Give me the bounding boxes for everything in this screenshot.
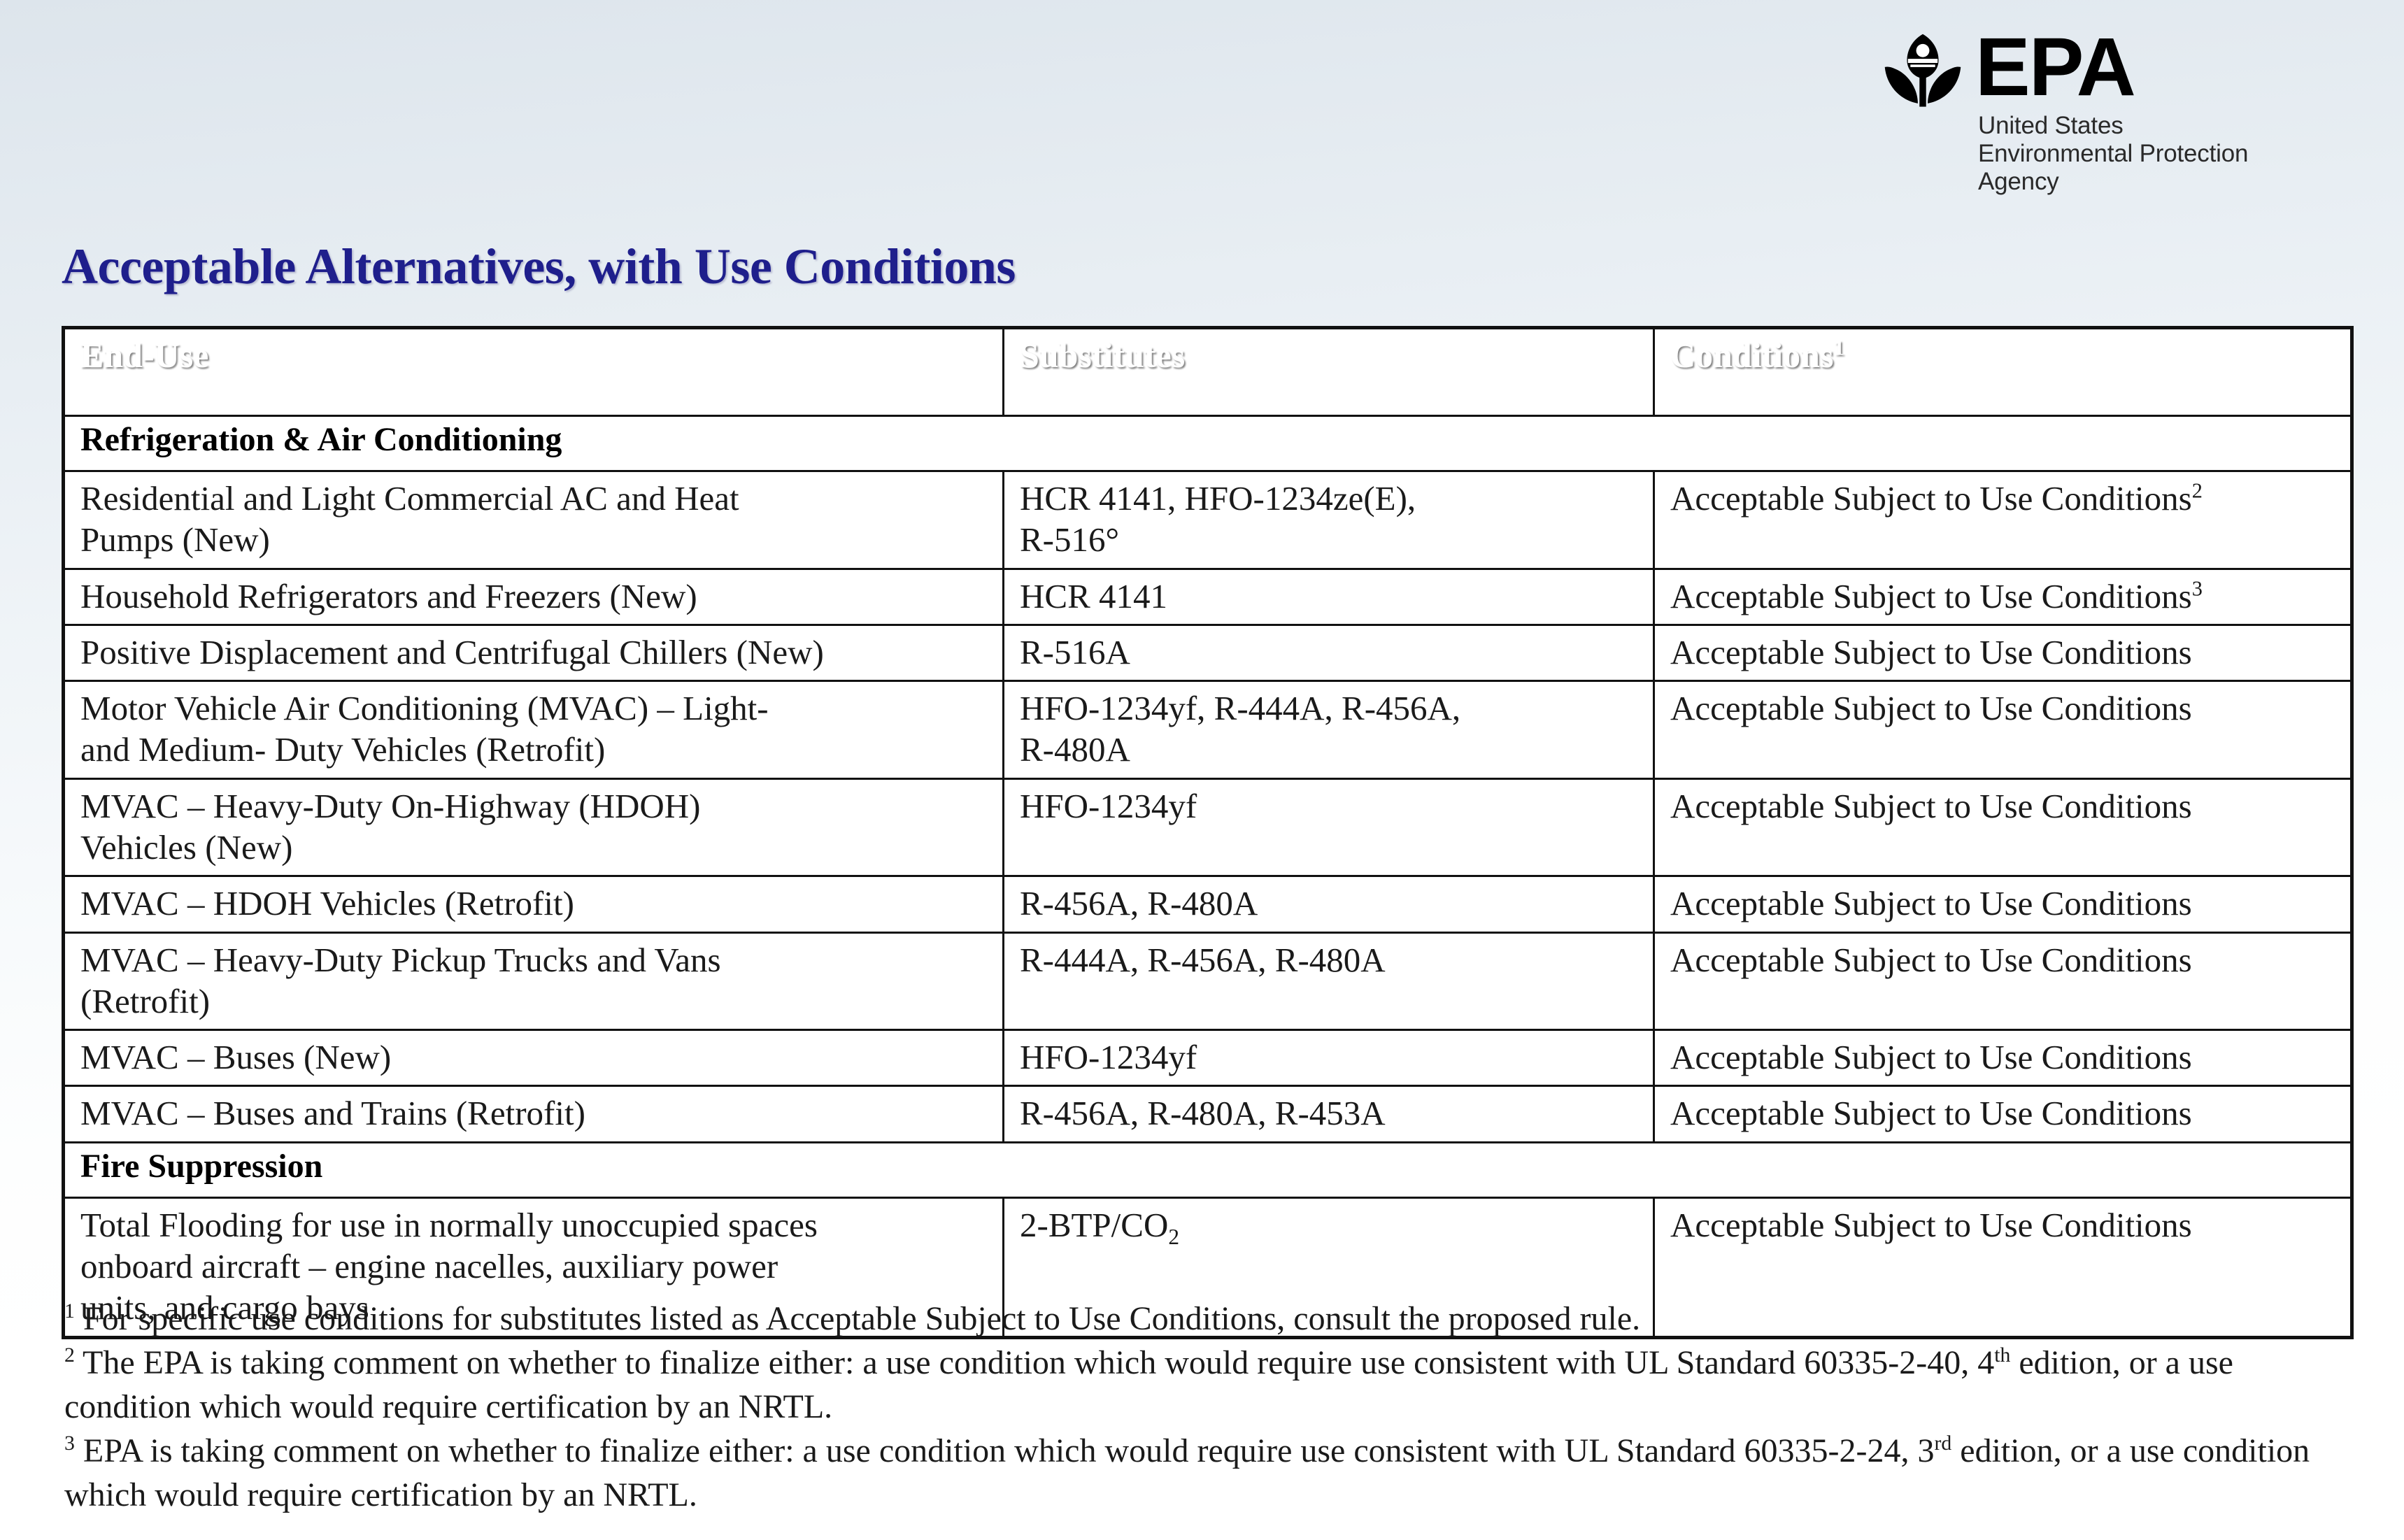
ordinal-suffix: rd <box>1934 1432 1951 1455</box>
cell-conditions: Acceptable Subject to Use Conditions <box>1654 1086 2352 1142</box>
cell-conditions: Acceptable Subject to Use Conditions2 <box>1654 471 2352 569</box>
table-row: MVAC – Buses (New)HFO-1234yfAcceptable S… <box>64 1030 2352 1086</box>
cell-conditions: Acceptable Subject to Use Conditions <box>1654 681 2352 779</box>
epa-agency-line-2: Environmental Protection <box>1978 140 2248 168</box>
cell-substitutes: R-444A, R-456A, R-480A <box>1004 932 1654 1030</box>
table-row: MVAC – Buses and Trains (Retrofit)R-456A… <box>64 1086 2352 1142</box>
substitute-line: R-480A <box>1020 729 1642 770</box>
cell-substitutes: R-456A, R-480A <box>1004 876 1654 932</box>
table-row: Positive Displacement and Centrifugal Ch… <box>64 625 2352 680</box>
footnote-marker: 1 <box>64 1299 75 1322</box>
table-row: MVAC – Heavy-Duty On-Highway (HDOH)Vehic… <box>64 778 2352 876</box>
cell-conditions: Acceptable Subject to Use Conditions <box>1654 778 2352 876</box>
end-use-line: Motor Vehicle Air Conditioning (MVAC) – … <box>80 687 991 729</box>
table-row: Household Refrigerators and Freezers (Ne… <box>64 569 2352 625</box>
epa-logo: EPA United States Environmental Protecti… <box>1882 28 2371 196</box>
end-use-line: Total Flooding for use in normally unocc… <box>80 1204 991 1246</box>
table-header: End-Use Substitutes Conditions1 <box>64 328 2352 416</box>
end-use-line: Vehicles (New) <box>80 827 991 868</box>
cell-end-use: Positive Displacement and Centrifugal Ch… <box>64 625 1004 680</box>
column-header-conditions: Conditions1 <box>1654 328 2352 416</box>
table-row: MVAC – Heavy-Duty Pickup Trucks and Vans… <box>64 932 2352 1030</box>
cell-substitutes: R-516A <box>1004 625 1654 680</box>
footnote: 2 The EPA is taking comment on whether t… <box>64 1341 2366 1429</box>
end-use-line: and Medium- Duty Vehicles (Retrofit) <box>80 729 991 770</box>
column-header-end-use: End-Use <box>64 328 1004 416</box>
cell-conditions: Acceptable Subject to Use Conditions3 <box>1654 569 2352 625</box>
substitute-line: 2-BTP/CO2 <box>1020 1204 1642 1246</box>
table-section-row: Refrigeration & Air Conditioning <box>64 416 2352 471</box>
epa-agency-name: United States Environmental Protection A… <box>1978 112 2248 196</box>
footnote-marker: 2 <box>2192 479 2203 503</box>
epa-seal-icon <box>1882 31 1964 113</box>
section-heading: Refrigeration & Air Conditioning <box>64 416 2352 471</box>
substitute-line: HCR 4141 <box>1020 576 1642 617</box>
column-header-substitutes: Substitutes <box>1004 328 1654 416</box>
end-use-line: MVAC – Heavy-Duty Pickup Trucks and Vans <box>80 939 991 981</box>
end-use-line: Pumps (New) <box>80 519 991 560</box>
end-use-line: Residential and Light Commercial AC and … <box>80 478 991 519</box>
end-use-line: MVAC – HDOH Vehicles (Retrofit) <box>80 883 991 924</box>
cell-end-use: Residential and Light Commercial AC and … <box>64 471 1004 569</box>
epa-acronym: EPA <box>1975 28 2248 106</box>
footnote: 3 EPA is taking comment on whether to fi… <box>64 1430 2366 1517</box>
end-use-line: MVAC – Heavy-Duty On-Highway (HDOH) <box>80 785 991 827</box>
cell-substitutes: HFO-1234yf <box>1004 1030 1654 1086</box>
cell-end-use: MVAC – Buses and Trains (Retrofit) <box>64 1086 1004 1142</box>
cell-substitutes: R-456A, R-480A, R-453A <box>1004 1086 1654 1142</box>
cell-substitutes: HCR 4141 <box>1004 569 1654 625</box>
cell-end-use: MVAC – Heavy-Duty Pickup Trucks and Vans… <box>64 932 1004 1030</box>
cell-substitutes: HCR 4141, HFO-1234ze(E),R-516° <box>1004 471 1654 569</box>
footnote-marker: 2 <box>64 1343 75 1367</box>
cell-conditions: Acceptable Subject to Use Conditions <box>1654 625 2352 680</box>
epa-agency-line-1: United States <box>1978 112 2248 140</box>
cell-substitutes: HFO-1234yf, R-444A, R-456A,R-480A <box>1004 681 1654 779</box>
substitute-line: R-456A, R-480A <box>1020 883 1642 924</box>
substitute-line: HFO-1234yf, R-444A, R-456A, <box>1020 687 1642 729</box>
cell-end-use: MVAC – Heavy-Duty On-Highway (HDOH)Vehic… <box>64 778 1004 876</box>
cell-end-use: MVAC – HDOH Vehicles (Retrofit) <box>64 876 1004 932</box>
alternatives-table-container: End-Use Substitutes Conditions1 Refriger… <box>62 326 2350 1339</box>
end-use-line: (Retrofit) <box>80 981 991 1022</box>
substitute-line: HFO-1234yf <box>1020 1036 1642 1078</box>
table-header-row: End-Use Substitutes Conditions1 <box>64 328 2352 416</box>
epa-agency-line-3: Agency <box>1978 168 2248 196</box>
substitute-line: R-516A <box>1020 632 1642 673</box>
substitute-line: R-516° <box>1020 519 1642 560</box>
footnote-text: For specific use conditions for substitu… <box>83 1300 1640 1337</box>
footnote-marker: 1 <box>1833 335 1844 359</box>
table-row: Residential and Light Commercial AC and … <box>64 471 2352 569</box>
cell-end-use: Household Refrigerators and Freezers (Ne… <box>64 569 1004 625</box>
ordinal-suffix: th <box>1994 1343 2010 1367</box>
cell-end-use: Motor Vehicle Air Conditioning (MVAC) – … <box>64 681 1004 779</box>
section-heading: Fire Suppression <box>64 1142 2352 1197</box>
footnote-marker: 3 <box>64 1432 75 1455</box>
end-use-line: onboard aircraft – engine nacelles, auxi… <box>80 1246 991 1287</box>
substitute-line: HFO-1234yf <box>1020 785 1642 827</box>
footnote-text: The EPA is taking comment on whether to … <box>64 1344 2233 1425</box>
table-row: MVAC – HDOH Vehicles (Retrofit)R-456A, R… <box>64 876 2352 932</box>
subscript: 2 <box>1168 1224 1179 1248</box>
footnote-marker: 3 <box>2192 576 2203 600</box>
end-use-line: MVAC – Buses and Trains (Retrofit) <box>80 1092 991 1134</box>
table-body: Refrigeration & Air ConditioningResident… <box>64 416 2352 1338</box>
cell-end-use: MVAC – Buses (New) <box>64 1030 1004 1086</box>
cell-conditions: Acceptable Subject to Use Conditions <box>1654 932 2352 1030</box>
table-section-row: Fire Suppression <box>64 1142 2352 1197</box>
cell-conditions: Acceptable Subject to Use Conditions <box>1654 1030 2352 1086</box>
footnotes-block: 1 For specific use conditions for substi… <box>64 1297 2366 1518</box>
footnote: 1 For specific use conditions for substi… <box>64 1297 2366 1341</box>
table-row: Motor Vehicle Air Conditioning (MVAC) – … <box>64 681 2352 779</box>
cell-conditions: Acceptable Subject to Use Conditions <box>1654 876 2352 932</box>
alternatives-table: End-Use Substitutes Conditions1 Refriger… <box>62 326 2354 1339</box>
end-use-line: MVAC – Buses (New) <box>80 1036 991 1078</box>
page-title: Acceptable Alternatives, with Use Condit… <box>62 238 1016 296</box>
substitute-line: HCR 4141, HFO-1234ze(E), <box>1020 478 1642 519</box>
substitute-line: R-444A, R-456A, R-480A <box>1020 939 1642 981</box>
end-use-line: Household Refrigerators and Freezers (Ne… <box>80 576 991 617</box>
end-use-line: Positive Displacement and Centrifugal Ch… <box>80 632 991 673</box>
cell-substitutes: HFO-1234yf <box>1004 778 1654 876</box>
substitute-line: R-456A, R-480A, R-453A <box>1020 1092 1642 1134</box>
footnote-text: EPA is taking comment on whether to fina… <box>64 1432 2310 1513</box>
